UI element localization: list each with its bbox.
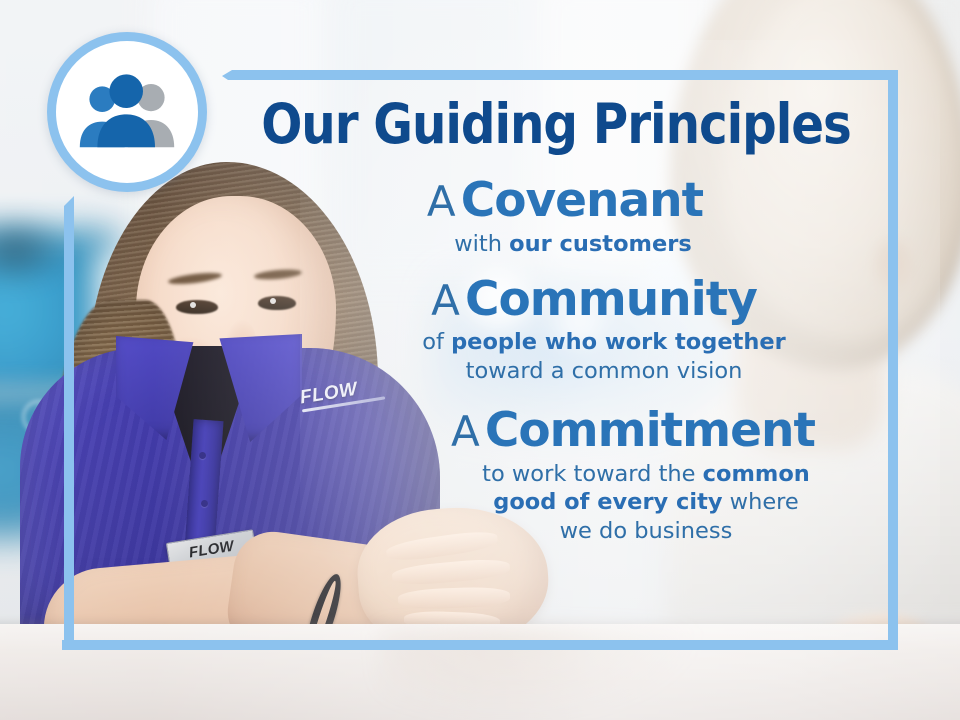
subtext-plain: toward a common vision (466, 358, 743, 384)
principle-item: A Covenant with our customers (232, 176, 892, 259)
principle-article: A (431, 276, 460, 325)
principle-heading: A Community (232, 275, 892, 326)
principle-subtext-line: to work toward the common (400, 460, 892, 489)
subtext-emphasis: good of every city (493, 489, 722, 515)
principle-word: Commitment (485, 403, 815, 458)
principle-word: Community (465, 272, 757, 327)
principle-item: A Commitment to work toward the commongo… (232, 406, 892, 546)
principles-list: A Covenant with our customers A Communit… (232, 176, 892, 548)
people-group-badge (47, 32, 207, 192)
people-group-icon (75, 73, 179, 151)
subtext-plain: to work toward the (482, 461, 703, 487)
guiding-principles-graphic: FLOW FLOW AUTOMOTIVE (0, 0, 960, 720)
subtext-emphasis: people who work together (451, 329, 786, 355)
principle-item: A Community of people who work togethert… (232, 275, 892, 386)
principle-heading: A Commitment (232, 406, 892, 457)
principle-subtext-line: of people who work together (316, 328, 892, 357)
subtext-plain: where (723, 489, 799, 515)
subtext-plain: with (454, 231, 509, 257)
principle-subtext-line: with our customers (254, 230, 892, 259)
subtext-emphasis: our customers (509, 231, 692, 257)
page-title: Our Guiding Principles (260, 96, 851, 154)
principle-subtext-line: we do business (400, 517, 892, 546)
principle-subtext-line: good of every city where (400, 488, 892, 517)
subtext-emphasis: common (703, 461, 810, 487)
subtext-plain: we do business (560, 518, 733, 544)
principle-article: A (427, 177, 456, 226)
principle-article: A (451, 407, 480, 456)
principle-heading: A Covenant (232, 176, 892, 227)
principle-subtext: with our customers (232, 230, 892, 259)
principle-word: Covenant (461, 173, 703, 228)
principle-subtext: to work toward the commongood of every c… (232, 460, 892, 546)
subtext-plain: of (422, 329, 451, 355)
principle-subtext-line: toward a common vision (316, 357, 892, 386)
principle-subtext: of people who work togethertoward a comm… (232, 328, 892, 386)
